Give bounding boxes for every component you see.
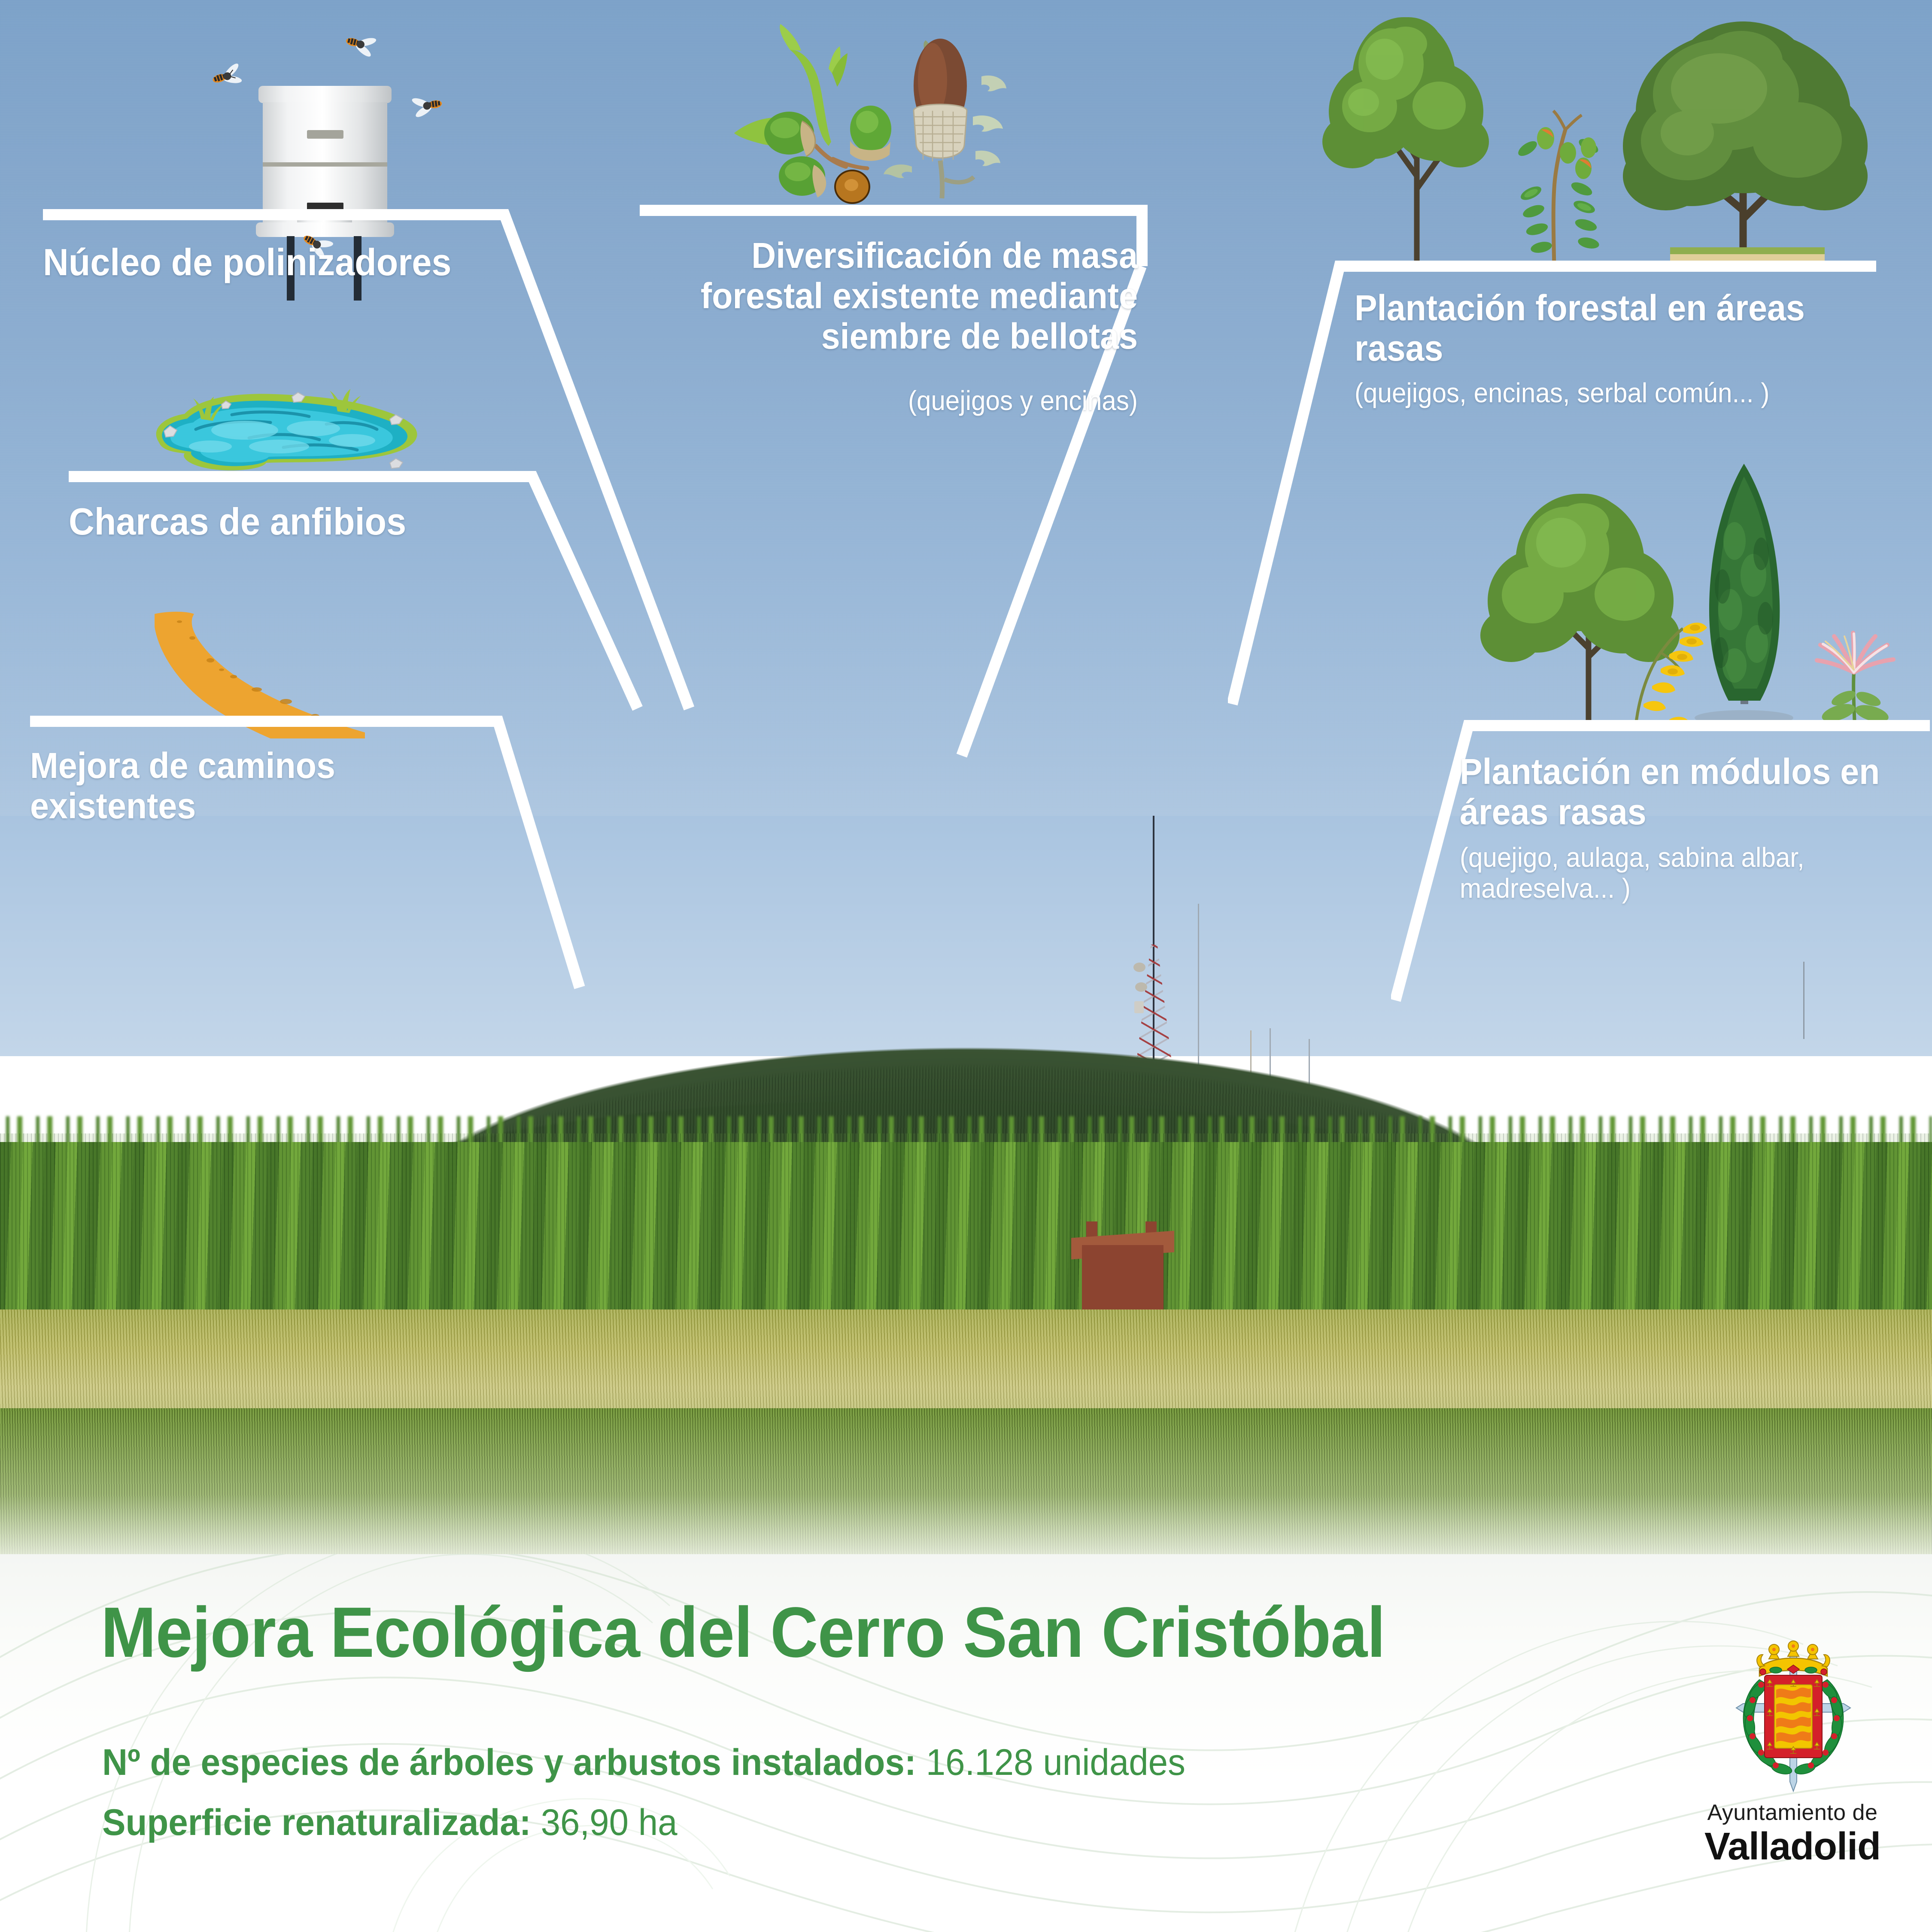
callout-title: Diversificación de masa forestal existen…	[682, 235, 1138, 356]
beehive-illustration	[185, 4, 451, 228]
callout-subtitle: (quejigos, encinas, serbal común... )	[1355, 378, 1891, 409]
callout-subtitle: (quejigo, aulaga, sabina albar, madresel…	[1460, 842, 1900, 904]
logo-line-1: Ayuntamiento de	[1692, 1800, 1893, 1826]
brick-house	[1082, 1245, 1163, 1318]
infographic-poster: Mejora Ecológica del Cerro San Cristóbal…	[0, 0, 1932, 1932]
stat-label: Superficie renaturalizada:	[102, 1802, 531, 1843]
valladolid-coat-of-arms-icon	[1718, 1640, 1868, 1795]
stat-value: 36,90 ha	[541, 1802, 677, 1843]
stat-value: 16.128 unidades	[926, 1742, 1185, 1783]
acorns-illustration	[687, 4, 1030, 206]
stat-species-count: Nº de especies de árboles y arbustos ins…	[102, 1743, 1489, 1782]
callout-title: Charcas de anfibios	[69, 501, 533, 543]
valladolid-logo: Ayuntamiento de Valladolid	[1692, 1640, 1893, 1880]
callout-title: Plantación forestal en áreas rasas	[1355, 288, 1891, 368]
photo-white-fade	[0, 1408, 1932, 1567]
callout-title: Mejora de caminos existentes	[30, 745, 417, 826]
stat-surface-area: Superficie renaturalizada: 36,90 ha	[102, 1803, 1489, 1842]
callout-title: Núcleo de polinizadores	[43, 241, 519, 284]
stat-label: Nº de especies de árboles y arbustos ins…	[102, 1742, 916, 1783]
page-title: Mejora Ecológica del Cerro San Cristóbal	[101, 1597, 1538, 1668]
logo-line-2: Valladolid	[1692, 1825, 1893, 1869]
callout-title: Plantación en módulos en áreas rasas	[1460, 751, 1912, 832]
forest-plantation-illustration	[1288, 4, 1915, 266]
callout-subtitle: (quejigos y encinas)	[682, 386, 1138, 416]
